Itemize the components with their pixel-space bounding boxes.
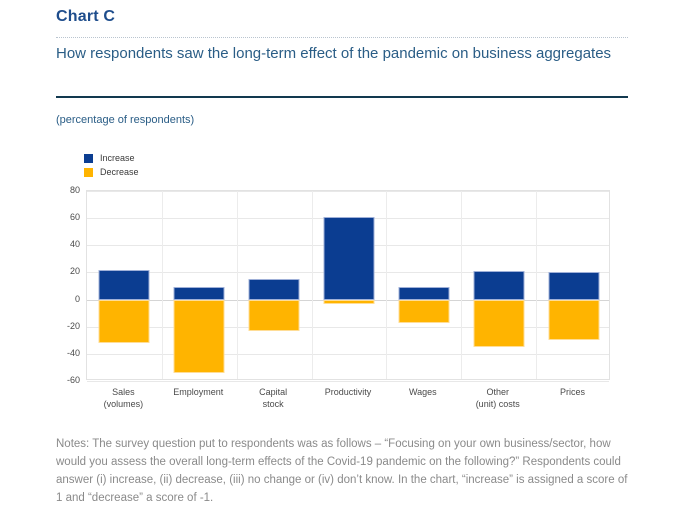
- x-label: Prices: [535, 386, 610, 398]
- y-tick--40: -40: [50, 348, 80, 358]
- x-label: Productivity: [311, 386, 386, 398]
- plot-area: [86, 190, 610, 380]
- x-label-line: (unit) costs: [460, 398, 535, 410]
- chart-legend: Increase Decrease: [84, 152, 139, 180]
- bar-slot[interactable]: [536, 191, 611, 379]
- x-label: Other(unit) costs: [460, 386, 535, 410]
- y-tick--60: -60: [50, 375, 80, 385]
- axis-units-label: (percentage of respondents): [56, 114, 194, 126]
- x-label: Employment: [161, 386, 236, 398]
- legend-item-decrease: Decrease: [84, 166, 139, 178]
- x-label-line: stock: [236, 398, 311, 410]
- x-axis-category-labels: Sales(volumes)EmploymentCapitalstockProd…: [86, 386, 610, 420]
- bar-increase[interactable]: [548, 272, 599, 299]
- x-label: Sales(volumes): [86, 386, 161, 410]
- y-tick-60: 60: [50, 212, 80, 222]
- chart-subtitle: How respondents saw the long-term effect…: [56, 43, 616, 64]
- bar-group: [87, 191, 609, 379]
- legend-swatch-increase: [84, 154, 93, 163]
- x-label: Capitalstock: [236, 386, 311, 410]
- bar-increase[interactable]: [323, 217, 374, 300]
- y-tick-0: 0: [50, 294, 80, 304]
- bar-decrease[interactable]: [548, 300, 599, 341]
- chart-notes: Notes: The survey question put to respon…: [56, 435, 628, 507]
- legend-label-increase: Increase: [100, 154, 135, 163]
- bar-slot[interactable]: [386, 191, 461, 379]
- bar-increase[interactable]: [249, 279, 300, 299]
- x-label-line: (volumes): [86, 398, 161, 410]
- bar-slot[interactable]: [312, 191, 387, 379]
- x-label-line: Productivity: [311, 386, 386, 398]
- gridline--60: [87, 381, 609, 382]
- bar-decrease[interactable]: [473, 300, 524, 348]
- y-tick-40: 40: [50, 239, 80, 249]
- x-label-line: Other: [460, 386, 535, 398]
- bar-decrease[interactable]: [398, 300, 449, 323]
- bar-decrease[interactable]: [249, 300, 300, 331]
- header-rule: [56, 96, 628, 98]
- x-label-line: Sales: [86, 386, 161, 398]
- x-label-line: Employment: [161, 386, 236, 398]
- bar-slot[interactable]: [87, 191, 162, 379]
- bar-increase[interactable]: [398, 287, 449, 299]
- legend-label-decrease: Decrease: [100, 168, 139, 177]
- y-tick-20: 20: [50, 266, 80, 276]
- bar-increase[interactable]: [473, 271, 524, 300]
- bar-decrease[interactable]: [99, 300, 150, 343]
- legend-swatch-decrease: [84, 168, 93, 177]
- y-tick-80: 80: [50, 185, 80, 195]
- bar-slot[interactable]: [237, 191, 312, 379]
- chart-label: Chart C: [56, 8, 115, 26]
- x-label-line: Wages: [385, 386, 460, 398]
- legend-item-increase: Increase: [84, 152, 139, 164]
- bar-decrease[interactable]: [174, 300, 225, 373]
- y-axis-tick-labels: 806040200-20-40-60: [48, 190, 80, 380]
- x-label-line: Prices: [535, 386, 610, 398]
- y-tick--20: -20: [50, 321, 80, 331]
- x-label-line: Capital: [236, 386, 311, 398]
- dotted-divider: [56, 37, 628, 38]
- x-label: Wages: [385, 386, 460, 398]
- bar-increase[interactable]: [99, 270, 150, 300]
- bar-slot[interactable]: [461, 191, 536, 379]
- bar-decrease[interactable]: [323, 300, 374, 304]
- chart-page: Chart C How respondents saw the long-ter…: [0, 0, 682, 527]
- bar-increase[interactable]: [174, 287, 225, 299]
- bar-slot[interactable]: [162, 191, 237, 379]
